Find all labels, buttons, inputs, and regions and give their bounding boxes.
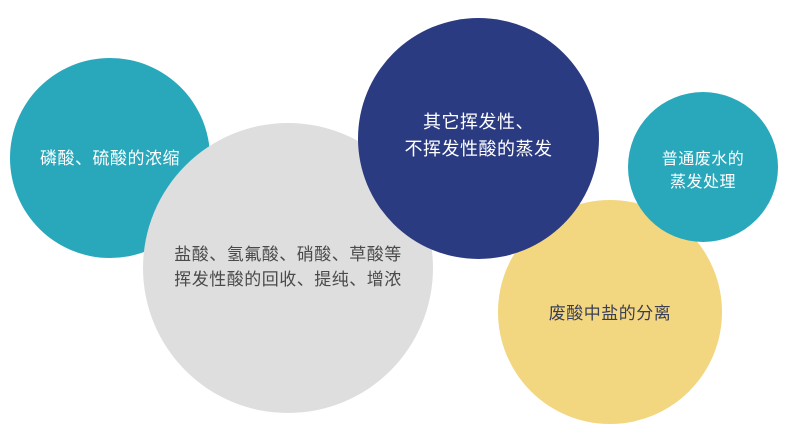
- bubble-other-acid-evaporation[interactable]: 其它挥发性、 不挥发性酸的蒸发: [358, 18, 599, 259]
- bubble-label-waste-acid-salt-separation: 废酸中盐的分离: [549, 302, 672, 327]
- bubble-label-other-acid-evaporation: 其它挥发性、 不挥发性酸的蒸发: [405, 110, 553, 162]
- bubble-label-volatile-acid-recovery: 盐酸、氢氟酸、硝酸、草酸等 挥发性酸的回收、提纯、增浓: [174, 243, 402, 292]
- diagram-canvas: 磷酸、硫酸的浓缩 盐酸、氢氟酸、硝酸、草酸等 挥发性酸的回收、提纯、增浓 其它挥…: [0, 0, 792, 439]
- bubble-label-phosphoric-sulfuric-concentration: 磷酸、硫酸的浓缩: [40, 147, 180, 172]
- bubble-ordinary-wastewater-evaporation[interactable]: 普通废水的 蒸发处理: [628, 92, 778, 242]
- bubble-label-ordinary-wastewater-evaporation: 普通废水的 蒸发处理: [662, 147, 745, 193]
